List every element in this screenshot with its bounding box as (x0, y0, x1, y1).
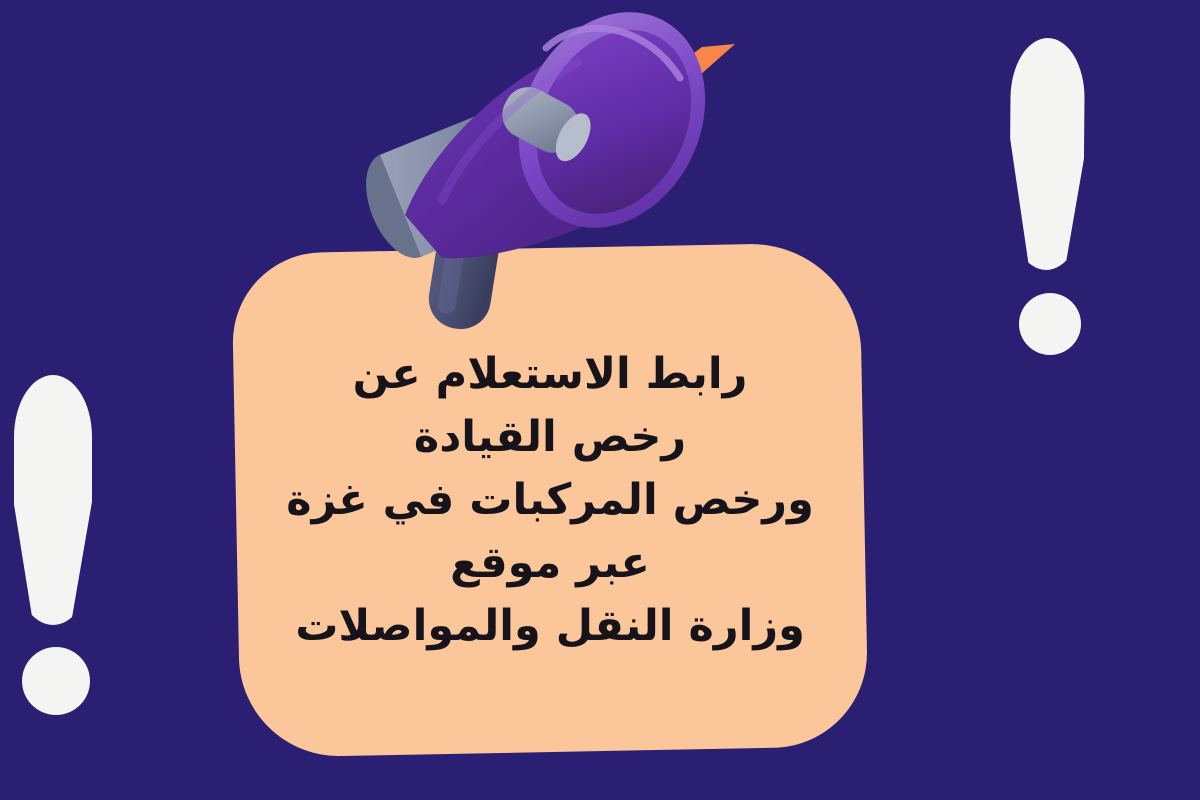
exclamation-mark-left (8, 375, 108, 705)
megaphone-icon (350, 0, 770, 340)
exclamation-mark-right (1008, 38, 1100, 368)
announcement-line-4: عبر موقع (450, 532, 650, 595)
exclamation-dot (22, 647, 90, 715)
announcement-line-1: رابط الاستعلام عن (353, 343, 748, 406)
announcement-line-5: وزارة النقل والمواصلات (295, 595, 805, 658)
poster-canvas: رابط الاستعلام عن رخص القيادة ورخص المرك… (0, 0, 1200, 800)
announcement-line-3: ورخص المركبات في غزة (286, 469, 814, 532)
announcement-line-2: رخص القيادة (414, 406, 686, 469)
exclamation-dot (1019, 293, 1081, 355)
